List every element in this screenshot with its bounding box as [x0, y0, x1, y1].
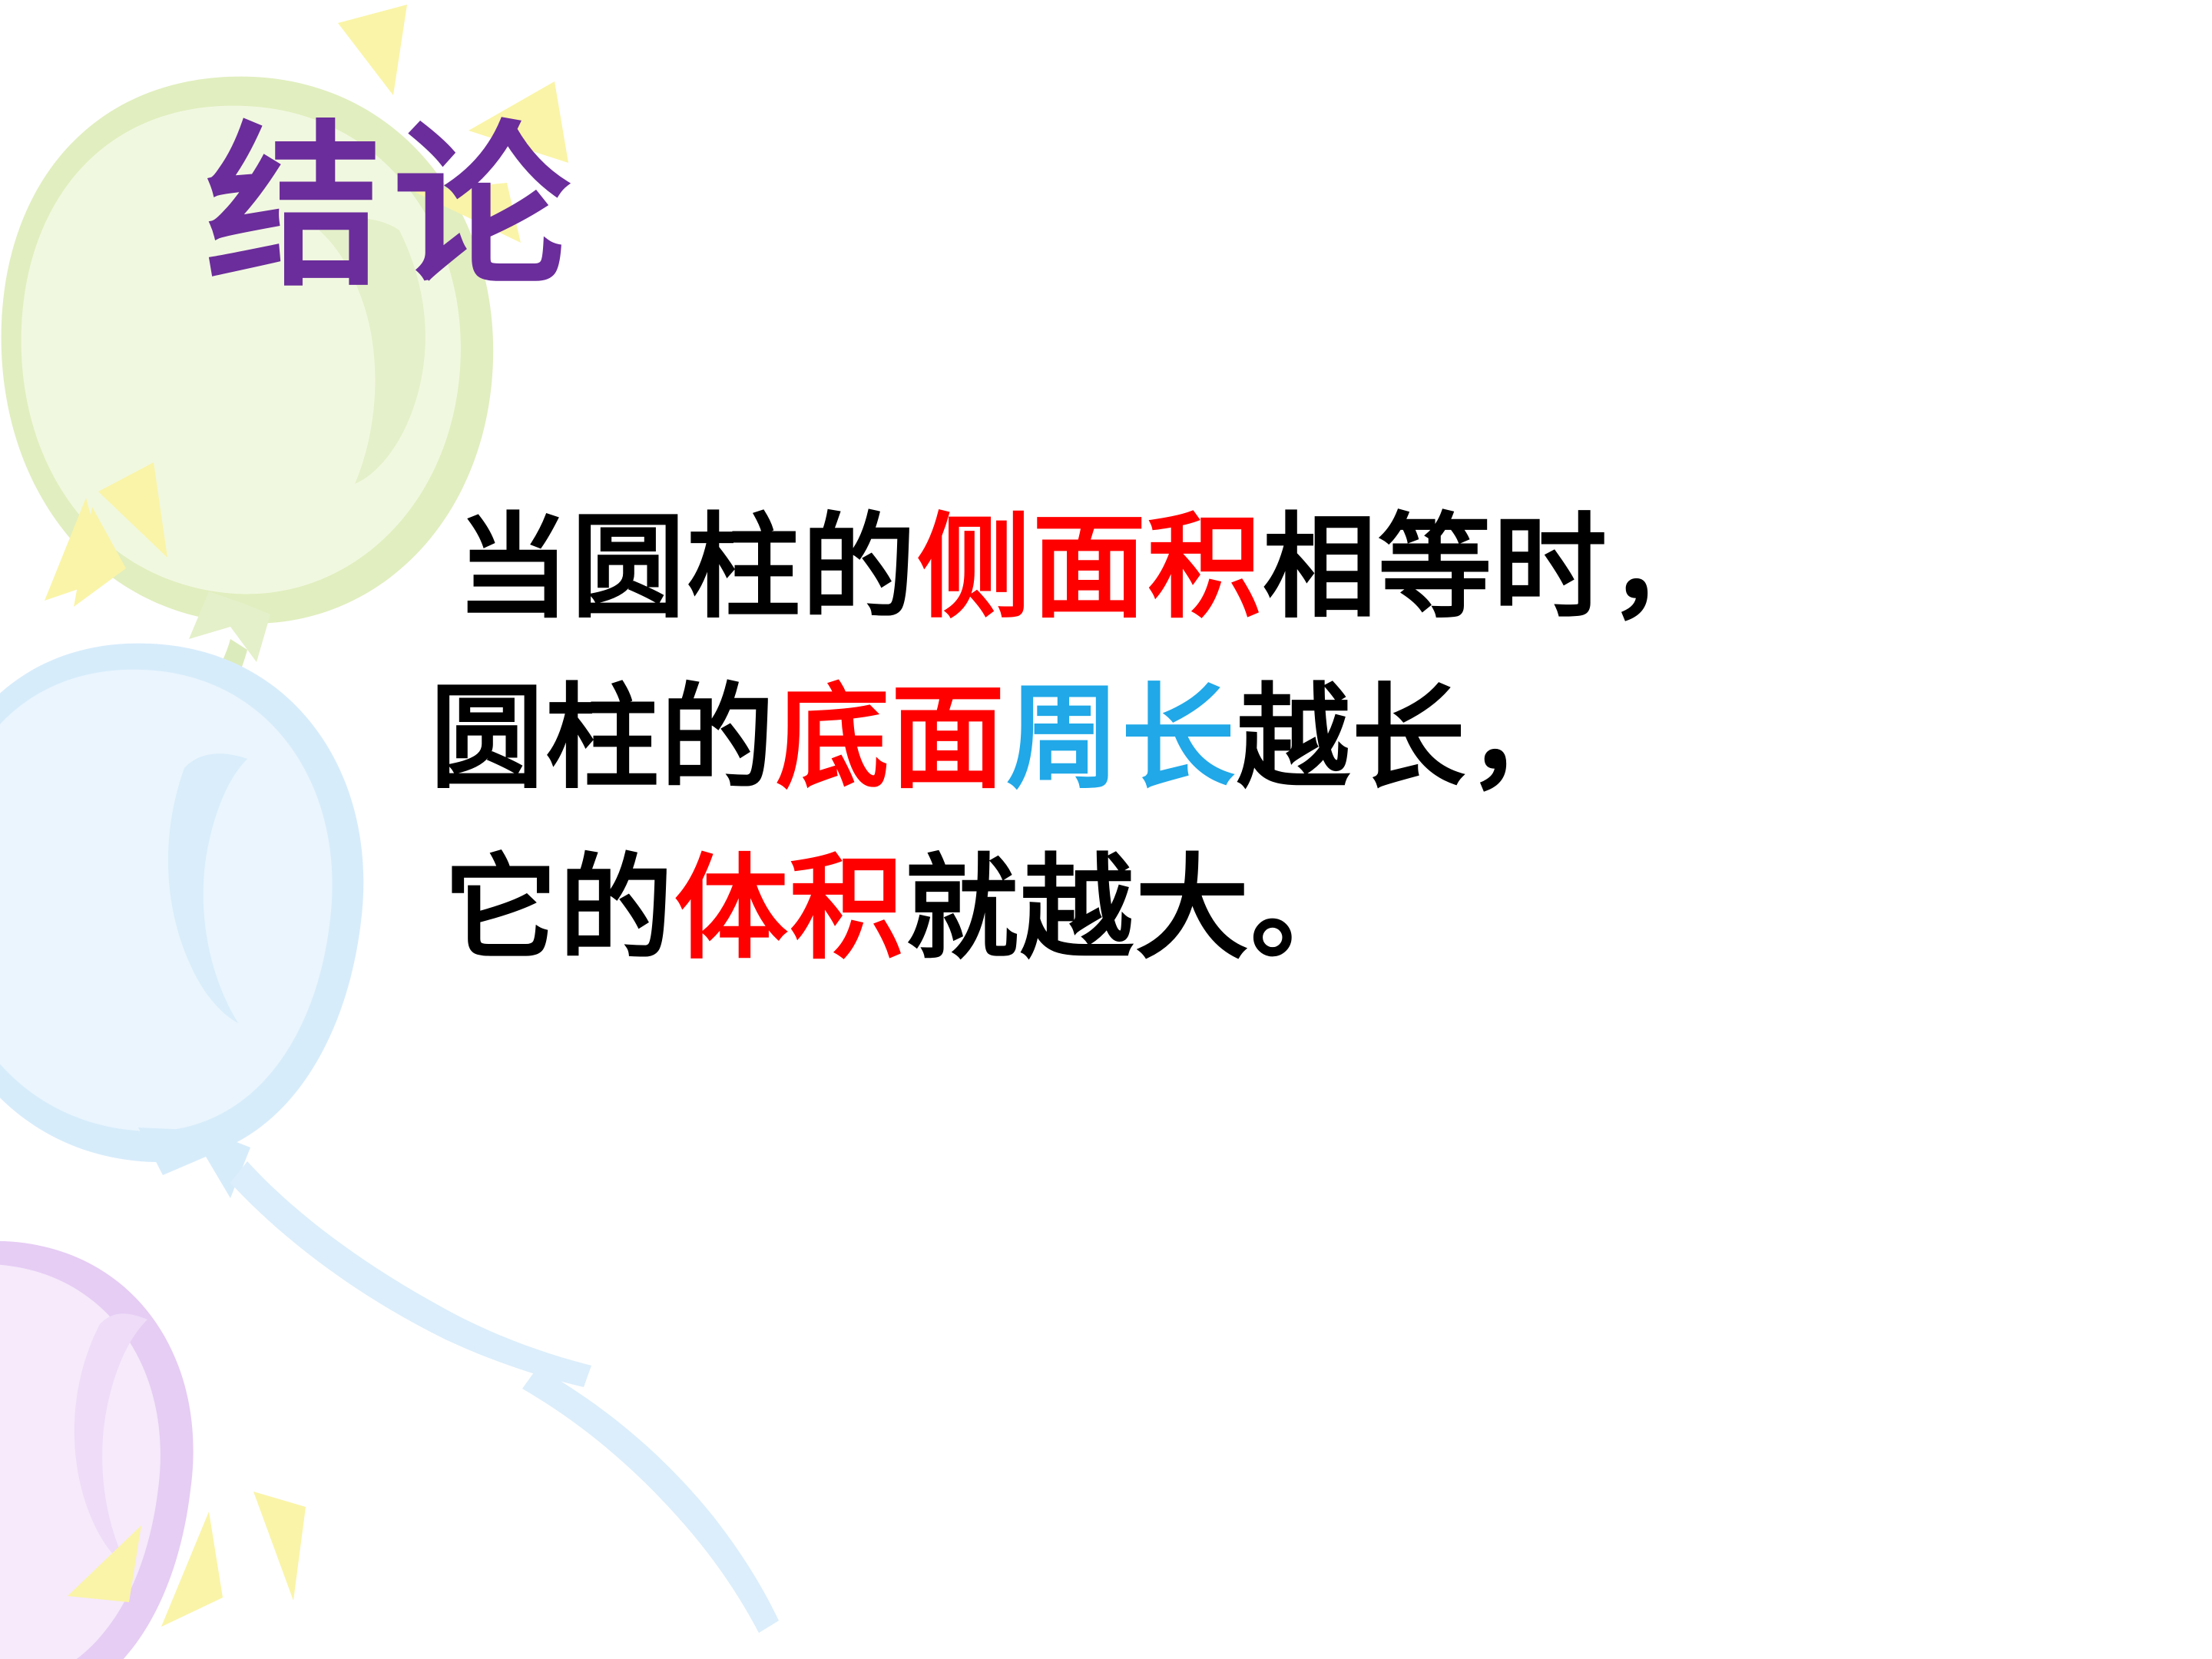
- body-line-2: 圆柱的底面周长越长，: [430, 654, 2005, 825]
- text-segment: 它的: [444, 847, 674, 973]
- sunburst-rays-bottom: [68, 1492, 306, 1627]
- body-line-1: 当圆柱的侧面积相等时，: [430, 484, 2005, 654]
- sunburst-rays-midleft: [45, 462, 167, 607]
- body-line-3: 它的体积就越大。: [430, 825, 2005, 995]
- text-segment: 圆柱的: [430, 677, 776, 803]
- highlight-text-dimian: 底面: [776, 677, 1006, 803]
- purple-balloon: [0, 1241, 194, 1659]
- highlight-text-zhouchang: 周长: [1006, 677, 1237, 803]
- slide-canvas: 结论 当圆柱的侧面积相等时， 圆柱的底面周长越长， 它的体积就越大。: [0, 0, 2212, 1659]
- page-title: 结论: [206, 115, 581, 301]
- highlight-text-tiji: 体积: [674, 847, 905, 973]
- text-segment: 越长，: [1237, 677, 1582, 803]
- text-segment: 相等时，: [1263, 506, 1724, 632]
- text-segment: 就越大。: [905, 847, 1366, 973]
- highlight-text-ceimianji: 侧面积: [917, 506, 1263, 632]
- body-text-block: 当圆柱的侧面积相等时， 圆柱的底面周长越长， 它的体积就越大。: [430, 484, 2005, 995]
- text-segment: 当圆柱的: [456, 506, 917, 632]
